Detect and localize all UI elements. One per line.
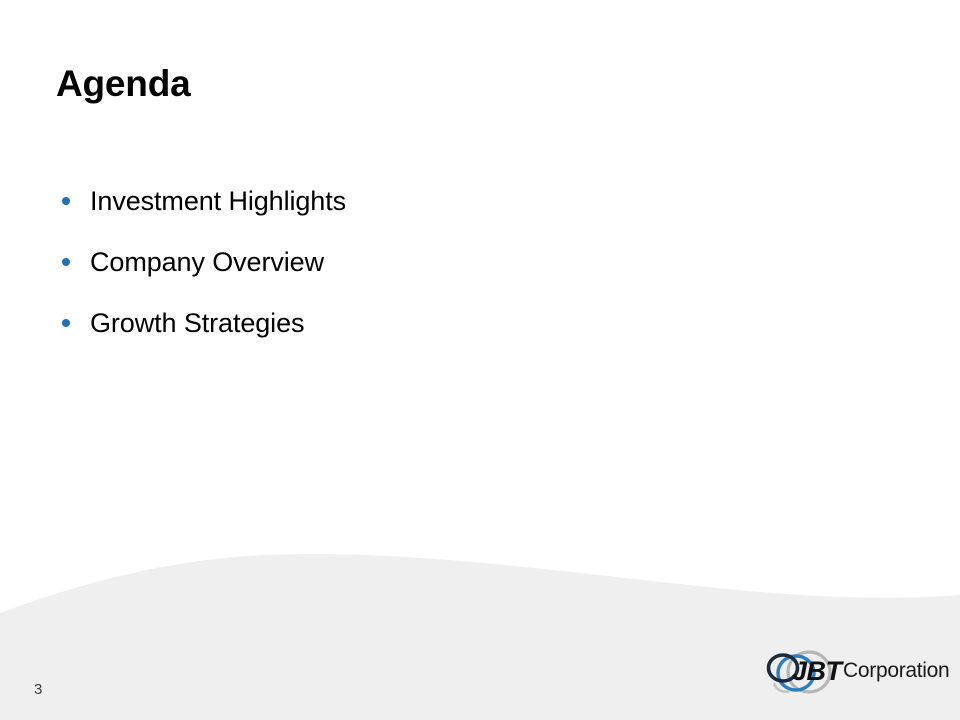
bullet-dot-icon (62, 197, 90, 205)
list-item-label: Growth Strategies (90, 310, 304, 337)
agenda-list: Investment Highlights Company Overview G… (62, 188, 622, 371)
list-item-label: Investment Highlights (90, 188, 346, 215)
page-number: 3 (34, 682, 42, 697)
jbt-corporation-logo: JBT Corporation (764, 645, 944, 699)
page-title: Agenda (56, 64, 190, 105)
list-item[interactable]: Growth Strategies (62, 310, 622, 371)
logo-suffix: Corporation (843, 660, 949, 681)
list-item-label: Company Overview (90, 249, 324, 276)
bullet-dot-icon (62, 319, 90, 327)
list-item[interactable]: Investment Highlights (62, 188, 622, 249)
logo-wordmark: JBT (792, 658, 842, 685)
slide-canvas: Agenda Investment Highlights Company Ove… (0, 0, 960, 720)
list-item[interactable]: Company Overview (62, 249, 622, 310)
bullet-dot-icon (62, 258, 90, 266)
